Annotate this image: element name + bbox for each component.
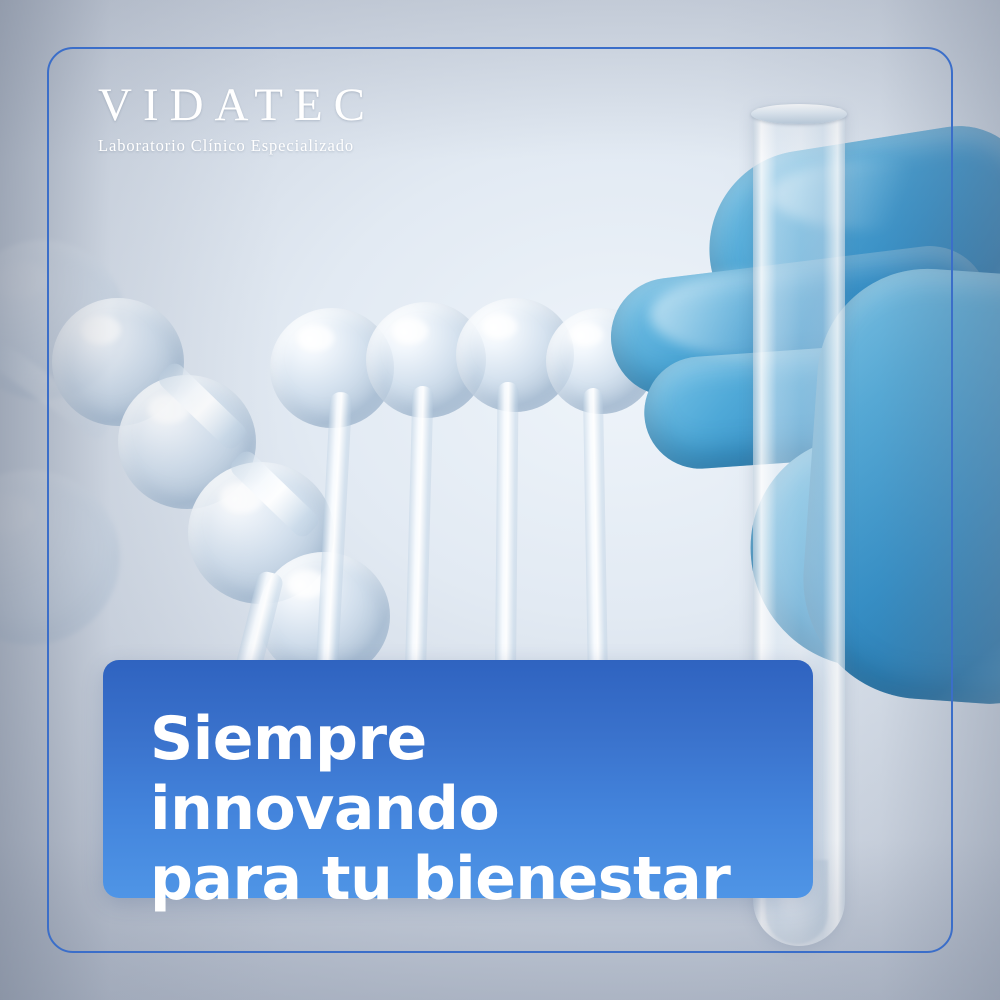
brand-logo: VIDATEC Laboratorio Clínico Especializad…	[98, 82, 376, 156]
headline-text: Siempre innovando para tu bienestar	[150, 704, 790, 914]
promo-graphic: VIDATEC Laboratorio Clínico Especializad…	[0, 0, 1000, 1000]
headline-banner: Siempre innovando para tu bienestar	[103, 660, 813, 898]
logo-tagline: Laboratorio Clínico Especializado	[98, 136, 376, 156]
logo-wordmark: VIDATEC	[98, 82, 376, 129]
